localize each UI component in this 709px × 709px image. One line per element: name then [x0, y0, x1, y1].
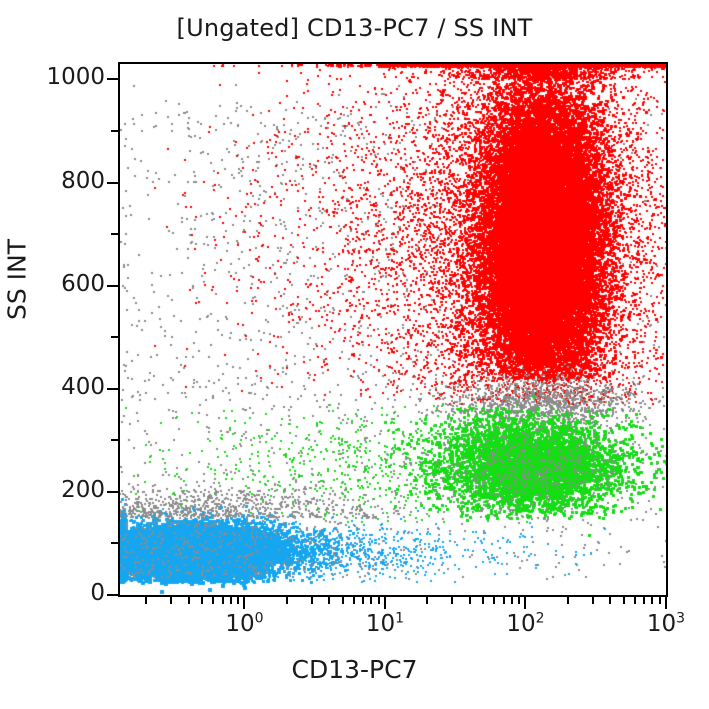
y-tick-minor — [111, 130, 118, 132]
x-tick-minor — [634, 597, 636, 604]
y-tick-major — [107, 491, 118, 493]
plot-area[interactable] — [118, 62, 668, 597]
x-tick-minor — [378, 597, 380, 604]
x-tick-minor — [451, 597, 453, 604]
x-tick-major — [243, 597, 245, 609]
x-tick-minor — [623, 597, 625, 604]
x-tick-minor — [511, 597, 513, 604]
y-tick-major — [107, 388, 118, 390]
y-tick-minor — [111, 439, 118, 441]
y-tick-minor — [111, 336, 118, 338]
x-tick-minor — [482, 597, 484, 604]
scatter-canvas[interactable] — [120, 64, 666, 595]
x-tick-minor — [609, 597, 611, 604]
x-tick-minor — [592, 597, 594, 604]
y-tick-label: 600 — [61, 273, 105, 296]
x-tick-minor — [342, 597, 344, 604]
flow-cytometry-plot: [Ungated] CD13-PC7 / SS INT 020040060080… — [0, 0, 709, 709]
x-tick-minor — [286, 597, 288, 604]
y-tick-minor — [111, 542, 118, 544]
y-tick-major — [107, 285, 118, 287]
y-tick-major — [107, 594, 118, 596]
x-tick-minor — [328, 597, 330, 604]
x-tick-minor — [643, 597, 645, 604]
y-tick-label: 400 — [61, 376, 105, 399]
x-tick-minor — [353, 597, 355, 604]
x-tick-minor — [659, 597, 661, 604]
y-tick-minor — [111, 233, 118, 235]
y-tick-label: 800 — [61, 170, 105, 193]
x-tick-minor — [311, 597, 313, 604]
y-axis-title: SS INT — [3, 200, 32, 360]
x-tick-minor — [222, 597, 224, 604]
x-tick-minor — [362, 597, 364, 604]
y-tick-major — [107, 78, 118, 80]
x-tick-minor — [503, 597, 505, 604]
x-tick-minor — [370, 597, 372, 604]
x-tick-minor — [651, 597, 653, 604]
x-tick-minor — [212, 597, 214, 604]
x-tick-minor — [567, 597, 569, 604]
x-tick-label: 101 — [366, 613, 404, 636]
x-tick-minor — [493, 597, 495, 604]
x-tick-minor — [469, 597, 471, 604]
x-tick-minor — [237, 597, 239, 604]
page-title: [Ungated] CD13-PC7 / SS INT — [0, 14, 709, 42]
x-tick-major — [665, 597, 667, 609]
x-tick-minor — [518, 597, 520, 604]
x-tick-minor — [145, 597, 147, 604]
x-tick-major — [524, 597, 526, 609]
y-tick-label: 200 — [61, 479, 105, 502]
x-axis-title: CD13-PC7 — [0, 655, 709, 684]
x-tick-label: 103 — [647, 613, 685, 636]
x-tick-minor — [201, 597, 203, 604]
x-tick-major — [384, 597, 386, 609]
x-tick-minor — [426, 597, 428, 604]
x-tick-label: 102 — [506, 613, 544, 636]
x-tick-minor — [170, 597, 172, 604]
x-tick-label: 100 — [225, 613, 263, 636]
y-tick-label: 0 — [90, 582, 105, 605]
x-tick-minor — [230, 597, 232, 604]
y-tick-major — [107, 182, 118, 184]
y-tick-label: 1000 — [46, 66, 105, 89]
x-tick-minor — [188, 597, 190, 604]
